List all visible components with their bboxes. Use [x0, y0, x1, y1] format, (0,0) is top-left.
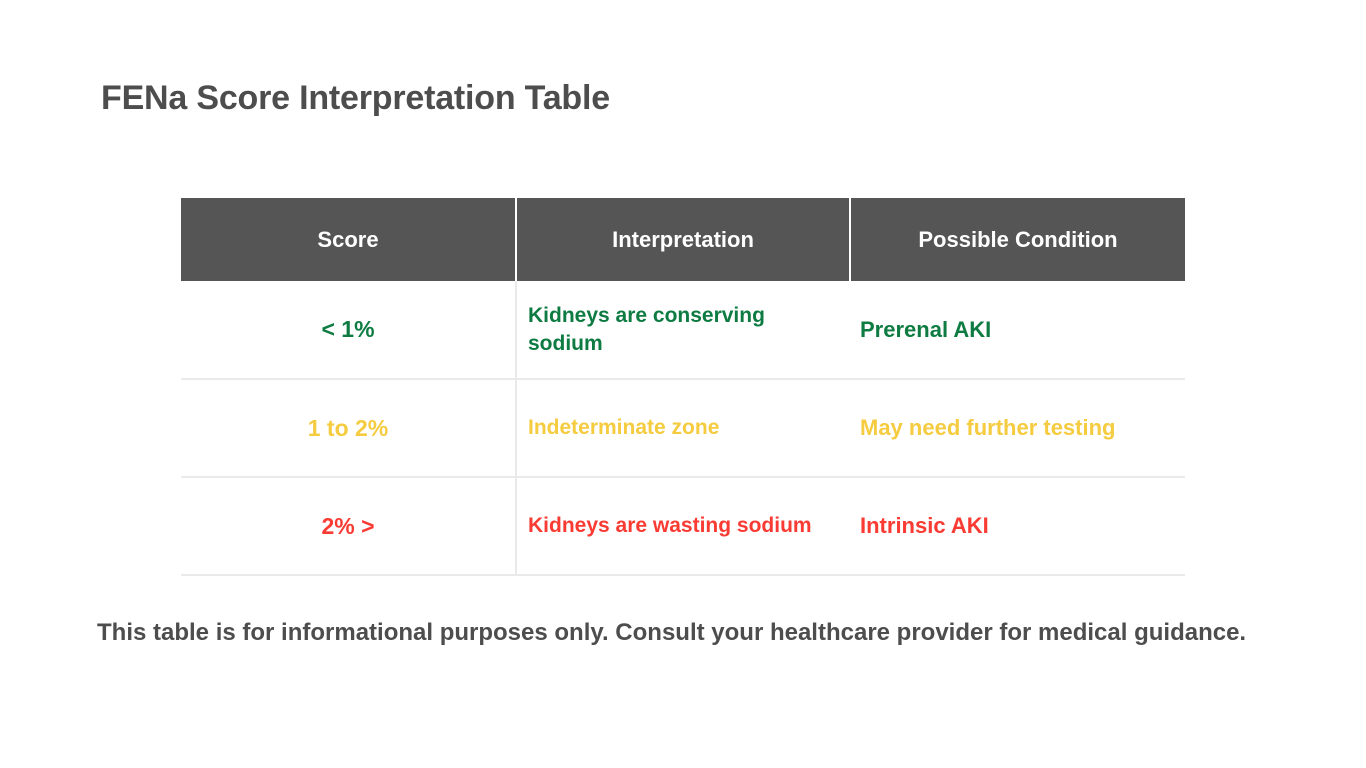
table-header: Score Interpretation Possible Condition — [181, 198, 1185, 281]
cell-interpretation: Indeterminate zone — [516, 379, 850, 477]
cell-interpretation: Kidneys are conserving sodium — [516, 281, 850, 379]
column-header-possible-condition: Possible Condition — [850, 198, 1185, 281]
table-header-row: Score Interpretation Possible Condition — [181, 198, 1185, 281]
page-root: FENa Score Interpretation Table Score In… — [0, 0, 1366, 768]
column-header-interpretation: Interpretation — [516, 198, 850, 281]
cell-possible-condition: Prerenal AKI — [850, 281, 1185, 379]
page-title: FENa Score Interpretation Table — [101, 79, 610, 118]
cell-possible-condition: Intrinsic AKI — [850, 477, 1185, 575]
fena-score-table: Score Interpretation Possible Condition … — [181, 198, 1185, 576]
cell-score: < 1% — [181, 281, 516, 379]
cell-score: 1 to 2% — [181, 379, 516, 477]
table-body: < 1% Kidneys are conserving sodium Prere… — [181, 281, 1185, 575]
table-row: 2% > Kidneys are wasting sodium Intrinsi… — [181, 477, 1185, 575]
cell-possible-condition: May need further testing — [850, 379, 1185, 477]
cell-interpretation: Kidneys are wasting sodium — [516, 477, 850, 575]
column-header-score: Score — [181, 198, 516, 281]
table-row: < 1% Kidneys are conserving sodium Prere… — [181, 281, 1185, 379]
cell-score: 2% > — [181, 477, 516, 575]
disclaimer-text: This table is for informational purposes… — [97, 612, 1282, 653]
table-row: 1 to 2% Indeterminate zone May need furt… — [181, 379, 1185, 477]
